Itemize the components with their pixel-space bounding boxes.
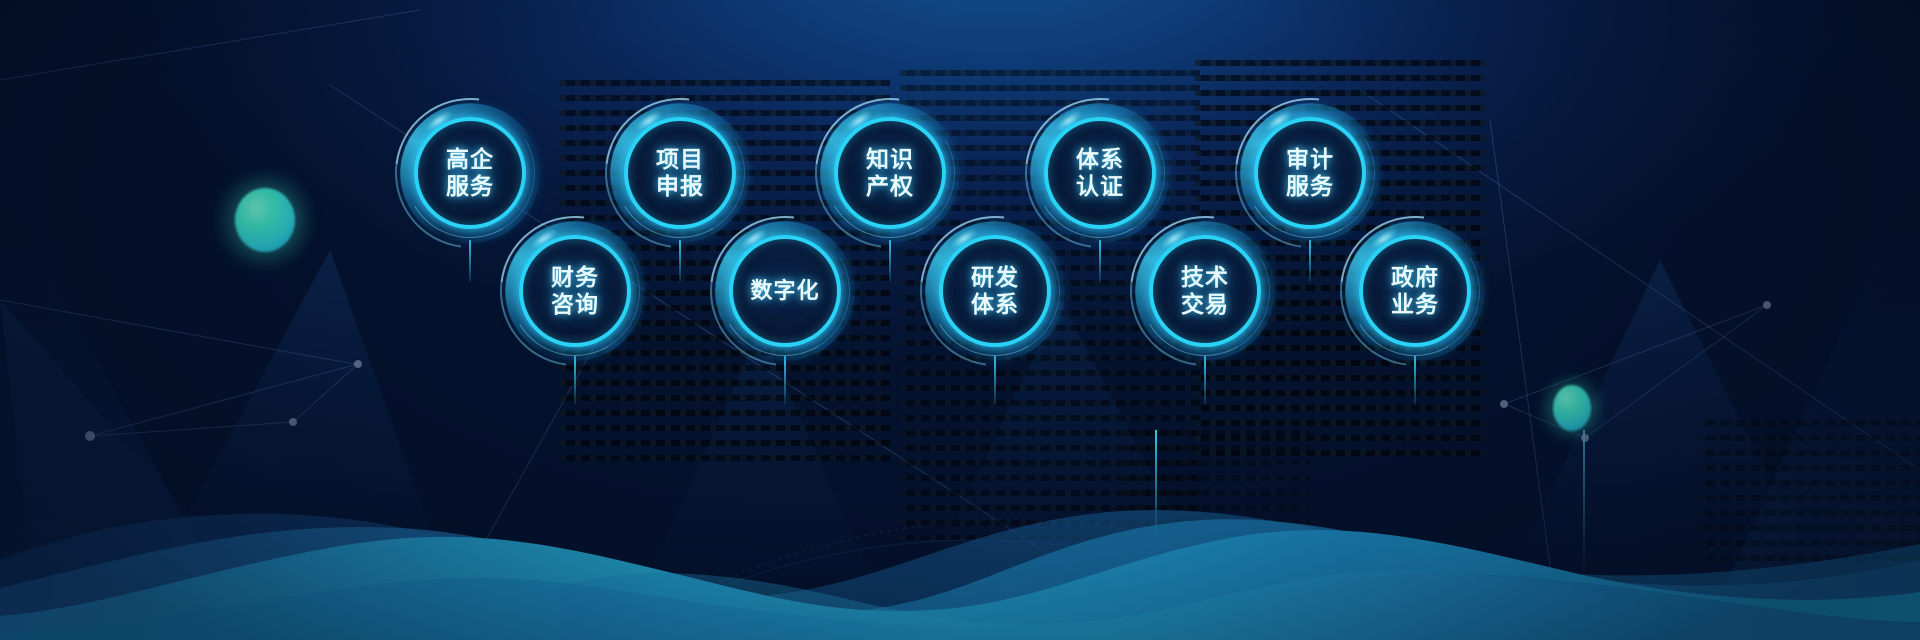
node-label-line: 数字化 <box>750 279 819 304</box>
node-label-line: 认证 <box>1076 174 1124 200</box>
node-label: 数字化 <box>729 235 841 347</box>
node-label-line: 体系 <box>971 292 1019 318</box>
node-label-line: 财务 <box>551 265 599 291</box>
node-label-line: 项目 <box>656 147 704 173</box>
service-node-caiwu-zixun[interactable]: 财务 咨询 <box>519 235 631 347</box>
node-label: 体系 认证 <box>1044 117 1156 229</box>
node-label-line: 技术 <box>1181 265 1229 291</box>
service-node-tixi-renzheng[interactable]: 体系 认证 <box>1044 117 1156 229</box>
node-label-line: 申报 <box>656 174 704 200</box>
service-node-yanfa-tixi[interactable]: 研发 体系 <box>939 235 1051 347</box>
service-node-gaoqi-fuwu[interactable]: 高企 服务 <box>414 117 526 229</box>
node-label-line: 交易 <box>1181 292 1229 318</box>
node-label: 政府 业务 <box>1359 235 1471 347</box>
node-label-line: 高企 <box>446 147 494 173</box>
node-label-line: 产权 <box>866 174 914 200</box>
service-node-zhishi-chanquan[interactable]: 知识 产权 <box>834 117 946 229</box>
node-label: 审计 服务 <box>1254 117 1366 229</box>
service-node-xiangmu-shenbao[interactable]: 项目 申报 <box>624 117 736 229</box>
node-label-line: 研发 <box>971 265 1019 291</box>
node-label-line: 体系 <box>1076 147 1124 173</box>
node-label: 高企 服务 <box>414 117 526 229</box>
node-label: 财务 咨询 <box>519 235 631 347</box>
node-label: 研发 体系 <box>939 235 1051 347</box>
node-label-line: 知识 <box>866 147 914 173</box>
service-node-shenji-fuwu[interactable]: 审计 服务 <box>1254 117 1366 229</box>
node-label-line: 业务 <box>1391 292 1439 318</box>
hero-banner: 高企 服务 项目 申报 知识 产权 <box>0 0 1920 640</box>
service-node-group: 高企 服务 项目 申报 知识 产权 <box>0 0 1920 640</box>
service-node-zhengfu-yewu[interactable]: 政府 业务 <box>1359 235 1471 347</box>
node-label-line: 咨询 <box>551 292 599 318</box>
node-label-line: 服务 <box>1286 174 1334 200</box>
node-label: 知识 产权 <box>834 117 946 229</box>
service-node-shuzihua[interactable]: 数字化 <box>729 235 841 347</box>
node-label: 项目 申报 <box>624 117 736 229</box>
node-label-line: 服务 <box>446 174 494 200</box>
service-node-jishu-jiaoyi[interactable]: 技术 交易 <box>1149 235 1261 347</box>
node-label-line: 政府 <box>1391 265 1439 291</box>
node-label: 技术 交易 <box>1149 235 1261 347</box>
node-label-line: 审计 <box>1286 147 1334 173</box>
